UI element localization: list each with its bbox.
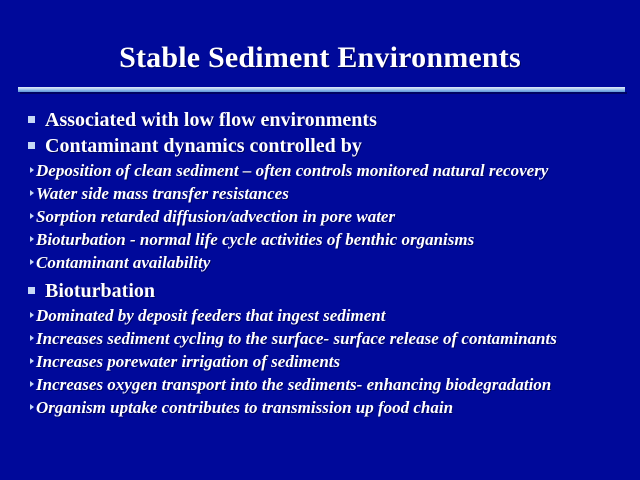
bullet-item-level2: Increases oxygen transport into the sedi…	[0, 373, 640, 396]
page-title: Stable Sediment Environments	[0, 40, 640, 76]
square-bullet-icon	[28, 287, 35, 294]
title-block: Stable Sediment Environments	[0, 40, 640, 76]
bullet-text: Bioturbation - normal life cycle activit…	[36, 228, 474, 251]
bullet-text: Contaminant availability	[36, 251, 210, 274]
bullet-item-level1: Bioturbation	[0, 278, 640, 304]
triangle-bullet-icon	[30, 167, 34, 173]
bullet-text: Deposition of clean sediment – often con…	[36, 159, 548, 182]
bullet-text: Contaminant dynamics controlled by	[45, 133, 362, 159]
bullet-item-level2: Organism uptake contributes to transmiss…	[0, 396, 640, 419]
bullet-text: Bioturbation	[45, 278, 155, 304]
bullet-text: Increases porewater irrigation of sedime…	[36, 350, 340, 373]
triangle-bullet-icon	[30, 259, 34, 265]
presentation-slide: Stable Sediment Environments Associated …	[0, 0, 640, 480]
triangle-bullet-icon	[30, 213, 34, 219]
triangle-bullet-icon	[30, 236, 34, 242]
triangle-bullet-icon	[30, 381, 34, 387]
bullet-item-level2: Deposition of clean sediment – often con…	[0, 159, 640, 182]
bullet-text: Increases oxygen transport into the sedi…	[36, 373, 551, 396]
bullet-item-level2: Bioturbation - normal life cycle activit…	[0, 228, 640, 251]
triangle-bullet-icon	[30, 358, 34, 364]
slide-body: Associated with low flow environments Co…	[0, 107, 640, 419]
triangle-bullet-icon	[30, 335, 34, 341]
bullet-text: Water side mass transfer resistances	[36, 182, 289, 205]
bullet-item-level2: Water side mass transfer resistances	[0, 182, 640, 205]
square-bullet-icon	[28, 116, 35, 123]
bullet-item-level2: Contaminant availability	[0, 251, 640, 274]
square-bullet-icon	[28, 142, 35, 149]
bullet-item-level1: Associated with low flow environments	[0, 107, 640, 133]
bullet-text: Dominated by deposit feeders that ingest…	[36, 304, 385, 327]
bullet-item-level2: Increases sediment cycling to the surfac…	[0, 327, 640, 350]
bullet-item-level2: Increases porewater irrigation of sedime…	[0, 350, 640, 373]
bullet-text: Sorption retarded diffusion/advection in…	[36, 205, 395, 228]
bullet-item-level2: Dominated by deposit feeders that ingest…	[0, 304, 640, 327]
triangle-bullet-icon	[30, 312, 34, 318]
bullet-text: Associated with low flow environments	[45, 107, 377, 133]
triangle-bullet-icon	[30, 190, 34, 196]
bullet-item-level1: Contaminant dynamics controlled by	[0, 133, 640, 159]
bullet-text: Organism uptake contributes to transmiss…	[36, 396, 453, 419]
triangle-bullet-icon	[30, 404, 34, 410]
title-divider-shadow	[20, 92, 627, 94]
bullet-item-level2: Sorption retarded diffusion/advection in…	[0, 205, 640, 228]
bullet-text: Increases sediment cycling to the surfac…	[36, 327, 557, 350]
